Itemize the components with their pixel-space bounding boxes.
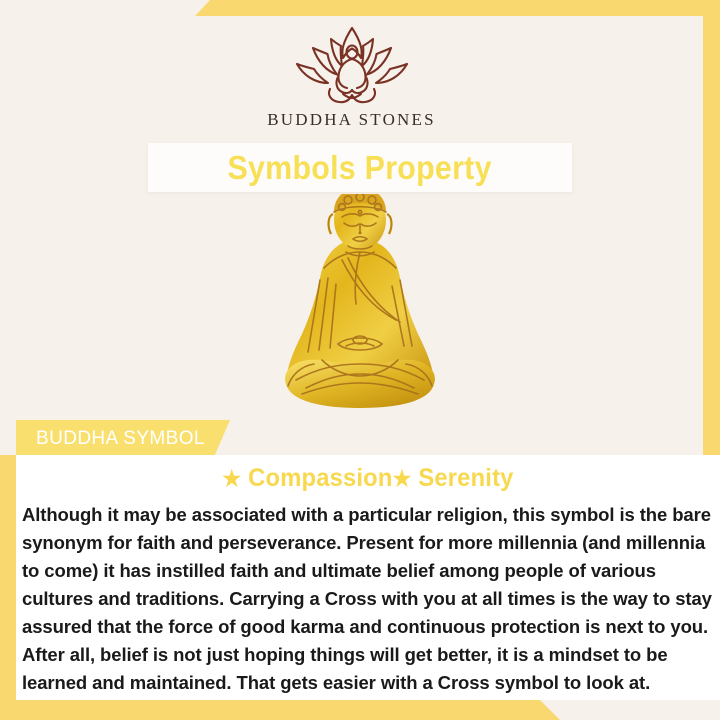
attribute-label-compassion: Compassion	[248, 464, 392, 492]
attributes-headline: ★ Compassion★ Serenity	[34, 464, 703, 493]
brand-logo: BUDDHA STONES	[0, 24, 703, 130]
category-ribbon: BUDDHA SYMBOL	[16, 420, 230, 457]
star-icon-2: ★	[393, 466, 412, 491]
attribute-label-serenity: Serenity	[418, 464, 513, 492]
category-ribbon-label: BUDDHA SYMBOL	[16, 428, 205, 450]
description-paragraph: Although it may be associated with a par…	[16, 501, 720, 697]
decorative-bottom-bar	[0, 700, 600, 720]
lotus-meditation-icon	[287, 24, 417, 106]
star-icon-1: ★	[222, 466, 241, 491]
description-panel: ★ Compassion★ Serenity Although it may b…	[16, 455, 720, 700]
page-title: Symbols Property	[228, 149, 492, 187]
decorative-right-bar	[703, 16, 720, 531]
title-banner: Symbols Property	[148, 143, 572, 192]
hero-section: BUDDHA STONES Symbols Property	[0, 16, 703, 455]
decorative-top-bar	[0, 0, 720, 16]
seated-buddha-statue-illustration	[262, 194, 458, 418]
infographic-poster: BUDDHA STONES Symbols Property	[0, 0, 720, 720]
brand-name: BUDDHA STONES	[0, 110, 703, 130]
